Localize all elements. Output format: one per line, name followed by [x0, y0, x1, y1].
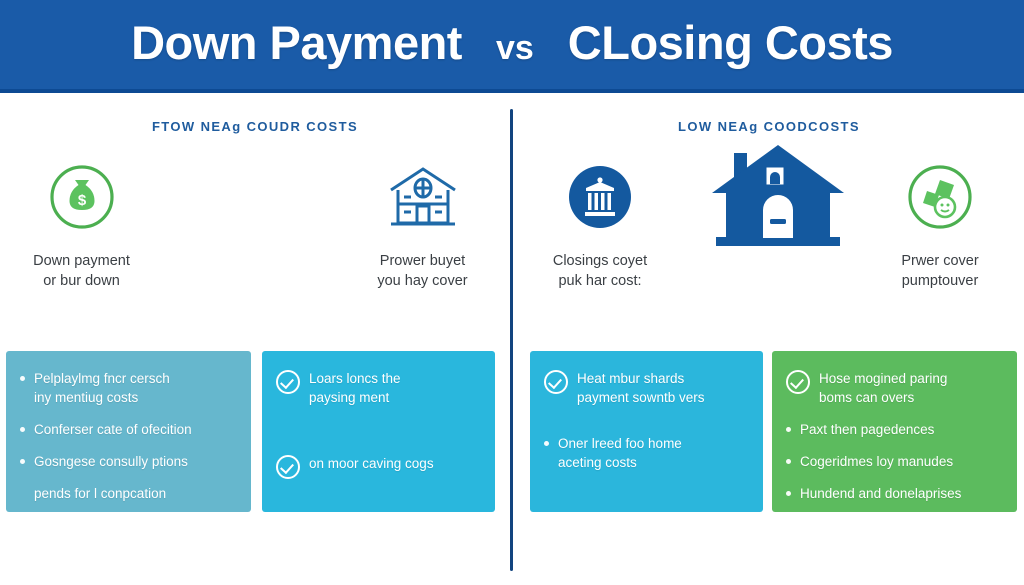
- list-item-label: Loars loncs the paysing ment: [309, 369, 401, 407]
- content-area: FTOW NEAg COUDR COSTS LOW NEAg COODCOSTS…: [0, 93, 1024, 585]
- icon-block-home-outline: Prower buyet you hay cover: [340, 155, 505, 291]
- list-item-label: Conferser cate of ofecition: [34, 420, 192, 439]
- list-item: Conferser cate of ofecition: [20, 420, 235, 439]
- check-circle-icon: [276, 455, 300, 479]
- money-bag-icon: $: [4, 155, 159, 239]
- left-column-heading: FTOW NEAg COUDR COSTS: [0, 119, 510, 134]
- header-title-left: Down Payment: [131, 15, 462, 70]
- bullet-dot-icon: [20, 427, 25, 432]
- list-item: Loars loncs the paysing ment: [276, 369, 479, 407]
- list-item-label: on moor caving cogs: [309, 454, 434, 473]
- icon-caption-home-outline: Prower buyet you hay cover: [340, 251, 505, 291]
- list-item-label: Pelplaylmg fncr cersch iny mentiug costs: [34, 369, 170, 407]
- header-title-right: CLosing Costs: [568, 15, 893, 70]
- documents-coin-icon: [865, 155, 1015, 239]
- list-item-label: Oner lreed foo home aceting costs: [558, 434, 682, 472]
- bullet-dot-icon: [20, 459, 25, 464]
- list-item: Oner lreed foo home aceting costs: [544, 434, 747, 472]
- bank-building-icon: [525, 155, 675, 239]
- list-item: Paxt then pagedences: [786, 420, 1001, 439]
- card-spacer: [544, 420, 747, 434]
- header-banner: Down Payment vs CLosing Costs: [0, 0, 1024, 93]
- list-item: Heat mbur shards payment sowntb vers: [544, 369, 747, 407]
- check-circle-icon: [786, 370, 810, 394]
- list-item: Pelplaylmg fncr cersch iny mentiug costs: [20, 369, 235, 407]
- list-item-label: Gosngese consully ptions: [34, 452, 188, 471]
- list-item: Gosngese consully ptions: [20, 452, 235, 471]
- check-circle-icon: [276, 370, 300, 394]
- list-item: pends for l conpcation: [20, 484, 235, 503]
- icon-caption-closing-costs: Closings coyet puk har cost:: [525, 251, 675, 291]
- card-closing-costs-notes: Heat mbur shards payment sowntb vers One…: [530, 351, 763, 512]
- check-circle-icon: [544, 370, 568, 394]
- list-item: Hose mogined paring boms can overs: [786, 369, 1001, 407]
- svg-text:$: $: [77, 192, 86, 209]
- list-item: on moor caving cogs: [276, 454, 479, 479]
- card-closing-costs-benefits: Hose mogined paring boms can overs Paxt …: [772, 351, 1017, 512]
- bullet-dot-icon: [786, 491, 791, 496]
- card-down-payment-notes: Pelplaylmg fncr cersch iny mentiug costs…: [6, 351, 251, 512]
- header-vs-label: vs: [496, 29, 534, 68]
- house-outline-icon: [340, 155, 505, 239]
- list-item-label: Heat mbur shards payment sowntb vers: [577, 369, 705, 407]
- header-title-group: Down Payment vs CLosing Costs: [131, 15, 893, 70]
- bullet-dot-icon: [544, 441, 549, 446]
- list-item-label: pends for l conpcation: [34, 484, 166, 503]
- bullet-dot-icon: [20, 376, 25, 381]
- icon-block-down-payment: $ Down payment or bur down: [4, 155, 159, 291]
- bullet-dot-icon: [786, 459, 791, 464]
- card-spacer: [276, 420, 479, 454]
- icon-block-closing-costs: Closings coyet puk har cost:: [525, 155, 675, 291]
- house-solid-icon: [690, 137, 865, 255]
- list-item: Cogeridmes loy manudes: [786, 452, 1001, 471]
- icon-block-coverage: Prwer cover pumptouver: [865, 155, 1015, 291]
- right-column-heading: LOW NEAg COODCOSTS: [514, 119, 1024, 134]
- column-divider: [510, 109, 513, 571]
- bullet-dot-icon: [786, 427, 791, 432]
- icon-caption-down-payment: Down payment or bur down: [4, 251, 159, 291]
- icon-block-house-solid: [690, 137, 865, 267]
- card-down-payment-benefits: Loars loncs the paysing ment on moor cav…: [262, 351, 495, 512]
- icon-caption-coverage: Prwer cover pumptouver: [865, 251, 1015, 291]
- list-item-label: Hose mogined paring boms can overs: [819, 369, 947, 407]
- list-item-label: Paxt then pagedences: [800, 420, 934, 439]
- list-item: Hundend and donelaprises: [786, 484, 1001, 503]
- list-item-label: Cogeridmes loy manudes: [800, 452, 953, 471]
- list-item-label: Hundend and donelaprises: [800, 484, 961, 503]
